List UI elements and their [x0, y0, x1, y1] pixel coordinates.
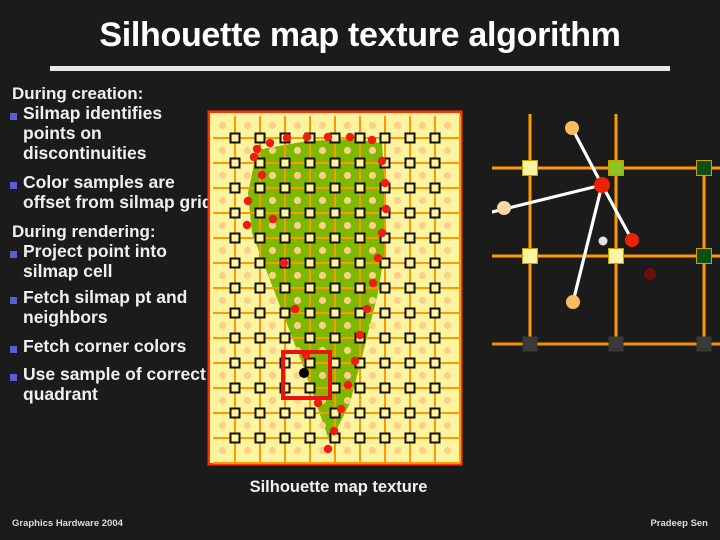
sample-dot-lower — [566, 295, 580, 309]
silmap-point-square — [381, 309, 390, 318]
silmap-point-square — [431, 284, 440, 293]
color-sample-dot — [219, 422, 226, 429]
color-sample-dot — [394, 347, 401, 354]
color-sample-dot — [344, 447, 351, 454]
color-sample-dot — [419, 322, 426, 329]
color-sample-dot — [344, 322, 351, 329]
color-sample-dot — [344, 247, 351, 254]
silmap-point-square — [281, 159, 290, 168]
silmap-point-square — [281, 184, 290, 193]
silmap-point-square — [356, 259, 365, 268]
color-sample-dot — [344, 172, 351, 179]
silhouette-boundary-dot — [258, 171, 266, 179]
bullet-text: Project point into silmap cell — [23, 242, 213, 282]
silmap-point-square — [306, 234, 315, 243]
silmap-point-square — [331, 234, 340, 243]
color-sample-dot — [419, 197, 426, 204]
color-sample-dot — [244, 247, 251, 254]
silmap-point-square — [381, 134, 390, 143]
color-sample-dot — [369, 422, 376, 429]
silmap-point-square — [306, 259, 315, 268]
silmap-point-square — [331, 309, 340, 318]
color-sample-dot — [369, 347, 376, 354]
bullet-square-icon — [10, 346, 17, 353]
silmap-point-square — [306, 184, 315, 193]
color-sample-dot — [444, 147, 451, 154]
color-sample-dot — [444, 272, 451, 279]
silhouette-boundary-dot — [291, 305, 299, 313]
silmap-point-square — [306, 434, 315, 443]
silhouette-boundary-dot — [243, 221, 251, 229]
silmap-point-square — [256, 409, 265, 418]
color-sample-dot — [269, 147, 276, 154]
sample-dot-dark — [644, 268, 656, 280]
color-sample-dot — [294, 122, 301, 129]
silmap-point-square — [256, 309, 265, 318]
silmap-point-square — [406, 334, 415, 343]
silmap-point-square — [406, 209, 415, 218]
silmap-point-square — [431, 409, 440, 418]
color-sample-dot — [319, 372, 326, 379]
silmap-point-square — [231, 159, 240, 168]
color-sample-dot — [394, 247, 401, 254]
ray-to-sample-upper — [572, 128, 602, 185]
silmap-point-square — [406, 159, 415, 168]
silmap-point-square — [281, 209, 290, 218]
color-sample-dot — [394, 422, 401, 429]
color-sample-dot — [294, 222, 301, 229]
silmap-point-square — [231, 184, 240, 193]
corner-node-mid-right — [697, 249, 712, 264]
color-sample-dot — [269, 372, 276, 379]
silmap-point-square — [431, 234, 440, 243]
color-sample-dot — [269, 247, 276, 254]
silmap-point-square — [256, 434, 265, 443]
color-sample-dot — [219, 447, 226, 454]
silhouette-boundary-dot — [382, 205, 390, 213]
color-sample-dot — [219, 272, 226, 279]
silmap-point-square — [231, 434, 240, 443]
corner-node-bottom-mid — [609, 337, 624, 352]
silmap-point-square — [281, 284, 290, 293]
bullet-square-icon — [10, 374, 17, 381]
silmap-point-square — [431, 309, 440, 318]
silmap-point-square — [356, 434, 365, 443]
color-sample-dot — [344, 272, 351, 279]
color-sample-dot — [419, 122, 426, 129]
silmap-point-square — [331, 259, 340, 268]
silmap-point-square — [356, 159, 365, 168]
color-sample-dot — [319, 147, 326, 154]
silmap-point-square — [356, 209, 365, 218]
silhouette-boundary-dot — [330, 427, 338, 435]
color-sample-dot — [394, 297, 401, 304]
color-sample-dot — [344, 147, 351, 154]
silhouette-boundary-dot — [381, 179, 389, 187]
silhouette-boundary-dot — [250, 153, 258, 161]
silmap-point-square — [306, 209, 315, 218]
projected-point-dot — [299, 368, 309, 378]
color-sample-dot — [269, 447, 276, 454]
corner-node-top-mid — [609, 161, 624, 176]
color-sample-dot — [244, 422, 251, 429]
color-sample-dot — [444, 372, 451, 379]
silmap-point-square — [231, 134, 240, 143]
silmap-point-square — [281, 434, 290, 443]
color-sample-dot — [219, 247, 226, 254]
silmap-point-square — [281, 234, 290, 243]
silhouette-boundary-dot — [314, 399, 322, 407]
color-sample-dot — [294, 197, 301, 204]
sample-dot-right — [625, 233, 639, 247]
silmap-point-square — [381, 384, 390, 393]
bullet-square-icon — [10, 251, 17, 258]
silmap-point-square — [231, 309, 240, 318]
color-sample-dot — [219, 172, 226, 179]
slide-root: Silhouette map texture algorithm During … — [0, 0, 720, 540]
silmap-point-square — [256, 234, 265, 243]
color-sample-dot — [369, 272, 376, 279]
color-sample-dot — [269, 297, 276, 304]
figure-caption: Silhouette map texture — [207, 478, 470, 497]
page-title: Silhouette map texture algorithm — [0, 16, 720, 55]
color-sample-dot — [394, 272, 401, 279]
color-sample-dot — [269, 422, 276, 429]
silmap-point-square — [306, 334, 315, 343]
silmap-point-square — [256, 384, 265, 393]
silmap-point-square — [431, 434, 440, 443]
color-sample-dot — [394, 172, 401, 179]
color-sample-dot — [419, 447, 426, 454]
color-sample-dot — [344, 122, 351, 129]
silhouette-boundary-dot — [369, 279, 377, 287]
color-sample-dot — [394, 147, 401, 154]
silhouette-boundary-dot — [363, 305, 371, 313]
section-heading-creation: During creation: — [12, 84, 213, 103]
color-sample-dot — [369, 247, 376, 254]
color-sample-dot — [419, 172, 426, 179]
color-sample-dot — [219, 372, 226, 379]
silmap-point-square — [231, 359, 240, 368]
color-sample-dot — [419, 397, 426, 404]
color-sample-dot — [244, 322, 251, 329]
sample-dot-left — [497, 201, 511, 215]
corner-node-mid-left — [523, 249, 538, 264]
silmap-point-square — [406, 359, 415, 368]
list-item: Fetch silmap pt and neighbors — [8, 288, 213, 328]
silmap-point-square — [331, 159, 340, 168]
color-sample-dot — [319, 422, 326, 429]
silmap-point-square — [256, 284, 265, 293]
silhouette-boundary-dot — [344, 381, 352, 389]
silmap-point-square — [331, 209, 340, 218]
silmap-point-square — [406, 434, 415, 443]
silmap-point-square — [431, 334, 440, 343]
color-sample-dot — [344, 222, 351, 229]
color-sample-dot — [444, 422, 451, 429]
silhouette-boundary-dot — [324, 445, 332, 453]
color-sample-dot — [369, 322, 376, 329]
silmap-point-square — [381, 409, 390, 418]
silmap-point-square — [406, 284, 415, 293]
color-sample-dot — [294, 247, 301, 254]
color-sample-dot — [444, 347, 451, 354]
corner-node-bottom-right — [697, 337, 712, 352]
color-sample-dot — [219, 147, 226, 154]
silmap-point-square — [231, 234, 240, 243]
corner-node-mid-mid — [609, 249, 624, 264]
color-sample-dot — [269, 172, 276, 179]
silmap-point-square — [356, 384, 365, 393]
color-sample-dot — [444, 247, 451, 254]
list-item: Fetch corner colors — [8, 337, 213, 357]
color-sample-dot — [294, 272, 301, 279]
color-sample-dot — [419, 422, 426, 429]
color-sample-dot — [394, 222, 401, 229]
color-sample-dot — [219, 197, 226, 204]
silmap-point-square — [231, 334, 240, 343]
color-sample-dot — [269, 322, 276, 329]
color-sample-dot — [419, 297, 426, 304]
silmap-point-square — [406, 259, 415, 268]
silhouette-boundary-dot — [324, 133, 332, 141]
color-sample-dot — [394, 322, 401, 329]
silmap-point-square — [381, 334, 390, 343]
title-divider — [50, 66, 670, 71]
color-sample-dot — [444, 197, 451, 204]
color-sample-dot — [394, 397, 401, 404]
color-sample-dot — [244, 272, 251, 279]
silmap-point-square — [431, 209, 440, 218]
color-sample-dot — [294, 447, 301, 454]
color-sample-dot — [294, 322, 301, 329]
color-sample-dot — [244, 172, 251, 179]
color-sample-dot — [219, 322, 226, 329]
color-sample-dot — [244, 122, 251, 129]
color-sample-dot — [394, 122, 401, 129]
bullet-column: During creation: Silmap identifies point… — [8, 84, 213, 414]
silmap-point-square — [281, 334, 290, 343]
color-sample-dot — [269, 272, 276, 279]
color-sample-dot — [319, 172, 326, 179]
list-item: Project point into silmap cell — [8, 242, 213, 282]
silmap-point-square — [231, 409, 240, 418]
corner-node-top-right — [697, 161, 712, 176]
color-sample-dot — [244, 147, 251, 154]
sample-dot-upper — [565, 121, 579, 135]
silmap-point-square — [431, 184, 440, 193]
color-sample-dot — [394, 372, 401, 379]
silmap-point-square — [406, 409, 415, 418]
silmap-point-square — [356, 234, 365, 243]
silhouette-boundary-dot — [283, 134, 291, 142]
color-sample-dot — [319, 222, 326, 229]
silhouette-boundary-dot — [303, 133, 311, 141]
silhouette-boundary-dot — [346, 133, 354, 141]
silmap-point-square — [406, 309, 415, 318]
color-sample-dot — [219, 397, 226, 404]
footer-author: Pradeep Sen — [650, 518, 708, 529]
color-sample-dot — [344, 347, 351, 354]
footer-conference: Graphics Hardware 2004 — [12, 518, 123, 529]
color-sample-dot — [419, 272, 426, 279]
list-item: Silmap identifies points on discontinuit… — [8, 104, 213, 164]
silmap-point-square — [281, 409, 290, 418]
bullet-text: Color samples are offset from silmap gri… — [23, 173, 213, 213]
color-sample-dot — [219, 297, 226, 304]
silmap-cell-diagram — [492, 106, 720, 368]
color-sample-dot — [319, 197, 326, 204]
color-sample-dot — [344, 397, 351, 404]
silmap-point-square — [331, 334, 340, 343]
color-sample-dot — [319, 322, 326, 329]
silmap-point-square — [256, 134, 265, 143]
color-sample-dot — [444, 447, 451, 454]
silmap-point-square — [381, 359, 390, 368]
silmap-point-square — [381, 434, 390, 443]
color-sample-dot — [344, 372, 351, 379]
color-sample-dot — [369, 122, 376, 129]
color-sample-dot — [294, 172, 301, 179]
silhouette-boundary-dot — [356, 331, 364, 339]
color-sample-dot — [369, 222, 376, 229]
color-sample-dot — [369, 197, 376, 204]
silmap-point-square — [231, 209, 240, 218]
silmap-point-square — [256, 184, 265, 193]
silmap-point-square — [281, 309, 290, 318]
bullet-text: Silmap identifies points on discontinuit… — [23, 104, 213, 164]
color-sample-dot — [244, 297, 251, 304]
color-sample-dot — [444, 397, 451, 404]
silmap-point-square — [406, 384, 415, 393]
color-sample-dot — [244, 372, 251, 379]
silmap-point-square — [306, 409, 315, 418]
silmap-point-square — [256, 259, 265, 268]
color-sample-dot — [319, 272, 326, 279]
color-sample-dot — [294, 147, 301, 154]
corner-node-top-left — [523, 161, 538, 176]
silmap-point-square — [231, 384, 240, 393]
silhouette-boundary-dot — [378, 229, 386, 237]
silmap-point-square — [331, 184, 340, 193]
color-sample-dot — [369, 372, 376, 379]
silhouette-map-texture-figure — [207, 110, 470, 475]
silmap-point-square — [356, 134, 365, 143]
center-projected-point — [594, 177, 610, 193]
color-sample-dot — [244, 347, 251, 354]
silhouette-boundary-dot — [378, 157, 386, 165]
silmap-point-square — [231, 284, 240, 293]
silhouette-boundary-dot — [253, 145, 261, 153]
color-sample-dot — [219, 347, 226, 354]
color-sample-dot — [419, 347, 426, 354]
color-sample-dot — [419, 247, 426, 254]
silmap-point-square — [256, 209, 265, 218]
silmap-point-square — [431, 359, 440, 368]
silhouette-boundary-dot — [374, 254, 382, 262]
corner-node-bottom-left — [523, 337, 538, 352]
color-sample-dot — [319, 247, 326, 254]
bullet-square-icon — [10, 297, 17, 304]
bullet-square-icon — [10, 182, 17, 189]
silmap-point-square — [256, 334, 265, 343]
silmap-point-square — [406, 134, 415, 143]
color-sample-dot — [444, 172, 451, 179]
bullet-text: Fetch silmap pt and neighbors — [23, 288, 213, 328]
silhouette-boundary-dot — [244, 197, 252, 205]
silhouette-boundary-dot — [269, 215, 277, 223]
color-sample-dot — [369, 172, 376, 179]
silmap-point-square — [431, 159, 440, 168]
silmap-point-square — [431, 384, 440, 393]
color-sample-dot — [394, 447, 401, 454]
color-sample-dot — [369, 297, 376, 304]
silmap-point-square — [306, 309, 315, 318]
silmap-point-square — [381, 284, 390, 293]
bullet-text: Fetch corner colors — [23, 337, 186, 357]
silmap-point-square — [231, 259, 240, 268]
silmap-point-square — [306, 384, 315, 393]
color-sample-dot — [369, 147, 376, 154]
color-sample-dot — [244, 447, 251, 454]
color-sample-dot — [344, 197, 351, 204]
color-sample-dot — [369, 447, 376, 454]
list-item: Color samples are offset from silmap gri… — [8, 173, 213, 213]
color-sample-dot — [269, 197, 276, 204]
color-sample-dot — [294, 422, 301, 429]
color-sample-dot — [244, 397, 251, 404]
color-sample-dot — [344, 422, 351, 429]
color-sample-dot — [219, 222, 226, 229]
color-sample-dot — [419, 147, 426, 154]
color-sample-dot — [419, 222, 426, 229]
silhouette-boundary-dot — [351, 357, 359, 365]
color-sample-dot — [294, 297, 301, 304]
silhouette-boundary-dot — [280, 259, 288, 267]
silmap-point-square — [406, 184, 415, 193]
color-sample-dot — [444, 122, 451, 129]
color-sample-dot — [219, 122, 226, 129]
sample-dot-gray — [599, 237, 608, 246]
ray-to-sample-lower — [573, 185, 602, 302]
color-sample-dot — [369, 397, 376, 404]
silmap-point-square — [306, 284, 315, 293]
color-sample-dot — [269, 347, 276, 354]
cell-diagram-canvas — [492, 106, 720, 368]
silmap-point-square — [356, 184, 365, 193]
color-sample-dot — [444, 322, 451, 329]
color-sample-dot — [344, 297, 351, 304]
color-sample-dot — [444, 222, 451, 229]
bullet-text: Use sample of correct quadrant — [23, 365, 213, 405]
silmap-point-square — [381, 259, 390, 268]
color-sample-dot — [269, 122, 276, 129]
color-sample-dot — [444, 297, 451, 304]
silmap-point-square — [331, 284, 340, 293]
silmap-point-square — [406, 234, 415, 243]
silmap-point-square — [431, 259, 440, 268]
section-heading-rendering: During rendering: — [12, 222, 213, 241]
silmap-point-square — [431, 134, 440, 143]
texture-canvas — [207, 110, 470, 475]
silmap-point-square — [306, 359, 315, 368]
silmap-point-square — [306, 159, 315, 168]
bullet-square-icon — [10, 113, 17, 120]
list-item: Use sample of correct quadrant — [8, 365, 213, 405]
silmap-point-square — [356, 409, 365, 418]
color-sample-dot — [419, 372, 426, 379]
silhouette-boundary-dot — [266, 139, 274, 147]
